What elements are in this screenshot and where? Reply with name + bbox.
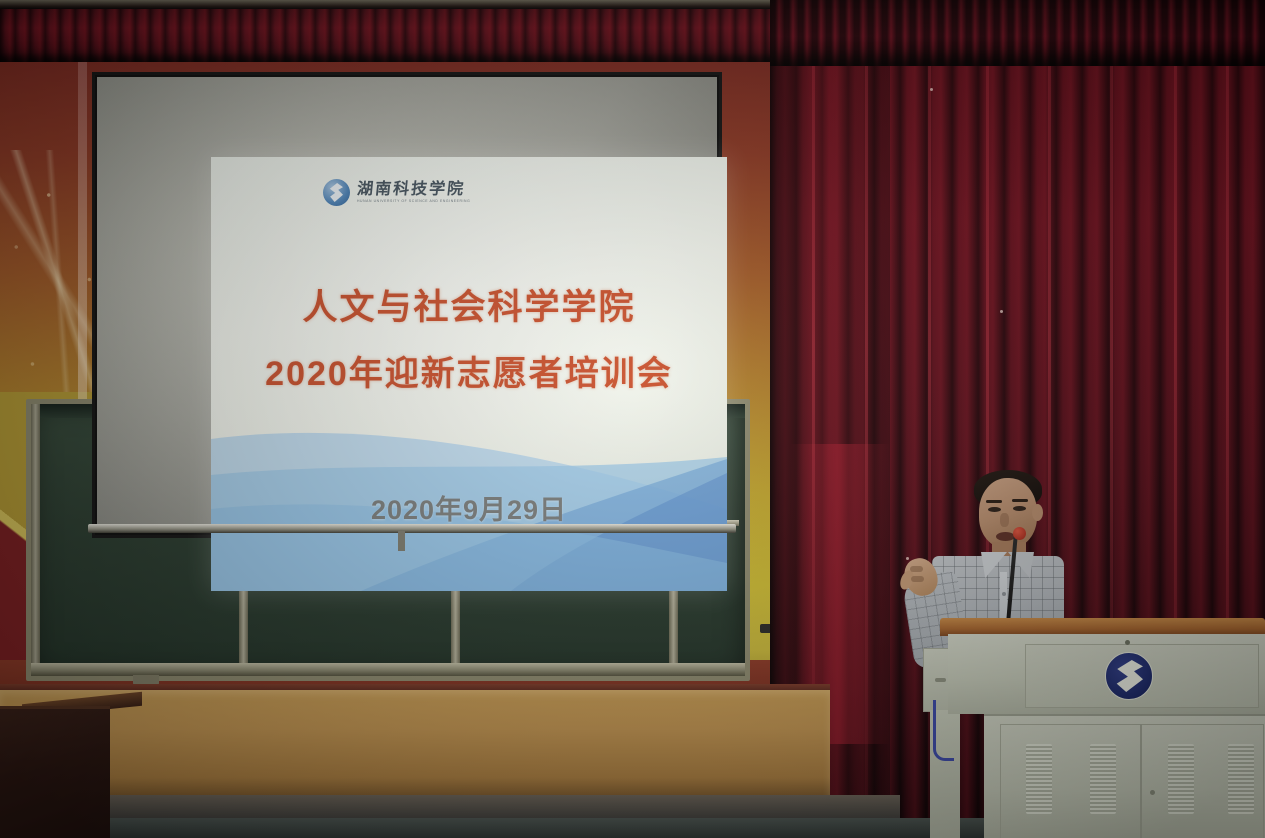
lecture-hall-photo: 湖南科技学院 HUNAN UNIVERSITY OF SCIENCE AND E… — [0, 0, 1265, 838]
shirt-button — [1002, 592, 1006, 596]
curtain-speck — [930, 88, 933, 91]
microphone-icon — [1013, 527, 1026, 540]
slide-title-line2: 2020年迎新志愿者培训会 — [211, 346, 727, 395]
university-emblem-icon — [1105, 652, 1153, 700]
slide-university-logo: 湖南科技学院 HUNAN UNIVERSITY OF SCIENCE AND E… — [323, 179, 470, 206]
blackboard-left-divider — [31, 404, 40, 676]
curtain-fold — [865, 14, 868, 838]
curtain-speck — [906, 557, 909, 560]
slide-date: 2020年9月29日 — [211, 488, 727, 527]
podium-vent — [1168, 744, 1194, 814]
cabinet-lock[interactable] — [1150, 790, 1155, 795]
cabinet-door-seam — [1140, 724, 1142, 838]
speaker-nose — [1000, 513, 1009, 527]
speaker-eye — [1013, 506, 1026, 511]
speaker-eyebrow — [986, 500, 1002, 503]
drawer-handle[interactable] — [935, 678, 946, 682]
curtain-speck — [1000, 310, 1003, 313]
podium-vent — [1026, 744, 1052, 814]
screen-bottom-bar — [88, 524, 736, 533]
curtain-valance-right — [770, 0, 1265, 66]
logo-text-block: 湖南科技学院 HUNAN UNIVERSITY OF SCIENCE AND E… — [357, 182, 470, 203]
logo-chinese-name: 湖南科技学院 — [356, 182, 471, 198]
speaker-eye — [988, 507, 1001, 512]
speaker-finger — [911, 576, 924, 582]
speaker-eyebrow — [1012, 499, 1028, 502]
wooden-cabinet — [0, 706, 110, 838]
speaker-finger — [910, 566, 923, 572]
podium-vent — [1228, 744, 1254, 814]
projection-screen: 湖南科技学院 HUNAN UNIVERSITY OF SCIENCE AND E… — [92, 72, 722, 538]
podium-vent — [1090, 744, 1116, 814]
screen-support-pole — [398, 531, 405, 551]
podium-screw — [1125, 640, 1130, 645]
slide-title-line1: 人文与社会科学学院 — [211, 279, 727, 330]
university-emblem-icon — [323, 179, 350, 206]
speaker-ear — [1032, 504, 1043, 521]
logo-english-name: HUNAN UNIVERSITY OF SCIENCE AND ENGINEER… — [357, 200, 470, 203]
